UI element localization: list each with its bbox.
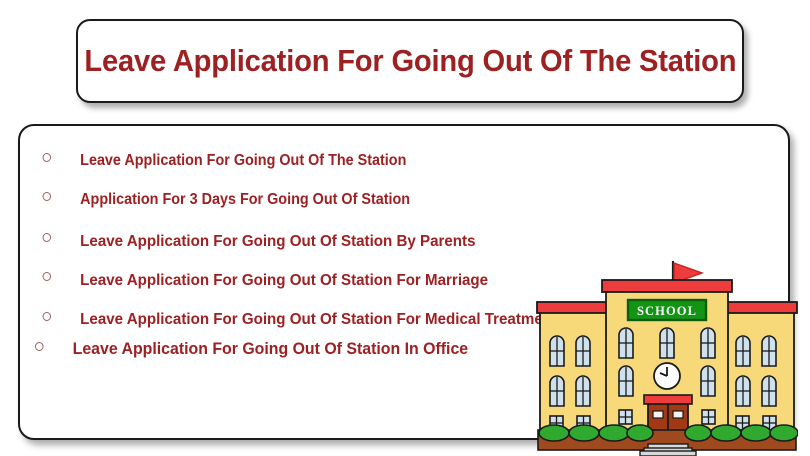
- list-item-label: Application For 3 Days For Going Out Of …: [80, 191, 410, 208]
- hollow-circle-bullet-icon: [43, 192, 51, 201]
- list-item[interactable]: Leave Application For Going Out Of Stati…: [20, 271, 584, 290]
- school-sign: SCHOOL: [628, 300, 706, 320]
- hollow-circle-bullet-icon: [43, 153, 51, 162]
- hollow-circle-bullet-icon: [43, 233, 51, 242]
- list-item-label: Leave Application For Going Out Of Stati…: [80, 232, 475, 250]
- right-wing: [723, 302, 797, 435]
- list-item[interactable]: Leave Application For Going Out Of Stati…: [20, 310, 584, 329]
- school-sign-label: SCHOOL: [637, 304, 697, 318]
- school-building-illustration: SCHOOL: [536, 258, 798, 456]
- hollow-circle-bullet-icon: [43, 272, 51, 281]
- list-item[interactable]: Leave Application For Going Out Of The S…: [20, 152, 584, 170]
- page-title: Leave Application For Going Out Of The S…: [84, 46, 736, 77]
- list-item-label: Leave Application For Going Out Of Stati…: [80, 310, 557, 328]
- left-wing: [537, 302, 611, 435]
- list-item-label: Leave Application For Going Out Of The S…: [80, 152, 406, 169]
- list-item[interactable]: Application For 3 Days For Going Out Of …: [20, 191, 584, 209]
- list-item[interactable]: Leave Application For Going Out Of Stati…: [20, 232, 584, 251]
- hollow-circle-bullet-icon: [43, 312, 51, 321]
- list-item-label: Leave Application For Going Out Of Stati…: [80, 271, 488, 289]
- clock-icon: [654, 363, 680, 389]
- list-item[interactable]: Leave Application For Going Out Of Stati…: [20, 339, 584, 359]
- list-item-label: Leave Application For Going Out Of Stati…: [73, 339, 468, 358]
- entrance-steps: [640, 444, 696, 456]
- hollow-circle-bullet-icon: [35, 342, 43, 351]
- topic-list: Leave Application For Going Out Of The S…: [20, 126, 620, 359]
- center-tower: SCHOOL: [602, 280, 732, 444]
- page-title-card: Leave Application For Going Out Of The S…: [76, 19, 744, 103]
